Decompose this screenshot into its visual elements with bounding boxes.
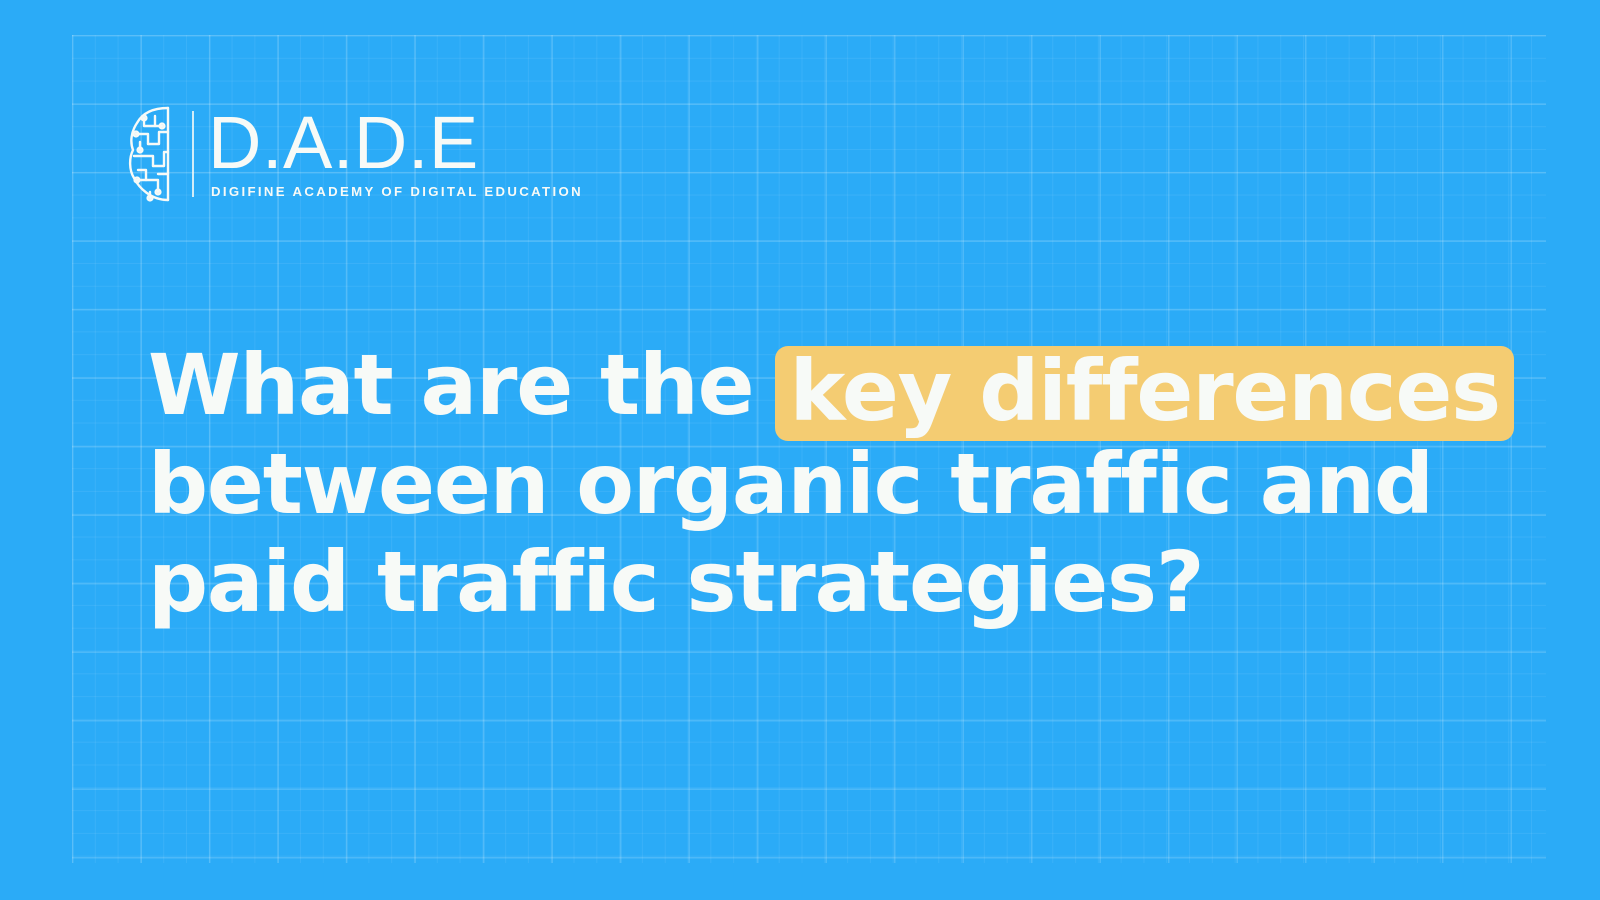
headline-line-1: What are the key differences	[148, 336, 1508, 435]
page-title: What are the key differences between org…	[148, 336, 1508, 631]
headline-highlight: key differences	[775, 346, 1514, 441]
logo-tagline: DIGIFINE ACADEMY OF DIGITAL EDUCATION	[208, 184, 583, 199]
logo-divider	[192, 111, 194, 197]
logo-wordmark: D.A.D.E DIGIFINE ACADEMY OF DIGITAL EDUC…	[208, 109, 583, 199]
brand-logo: D.A.D.E DIGIFINE ACADEMY OF DIGITAL EDUC…	[124, 104, 583, 204]
brain-circuit-icon	[124, 104, 186, 204]
headline-line-3: paid traffic strategies?	[148, 533, 1508, 631]
logo-title: D.A.D.E	[208, 109, 583, 177]
slide-canvas: D.A.D.E DIGIFINE ACADEMY OF DIGITAL EDUC…	[0, 0, 1600, 900]
headline-line-1-text: What are the	[148, 336, 781, 434]
headline-line-2: between organic traffic and	[148, 435, 1508, 533]
